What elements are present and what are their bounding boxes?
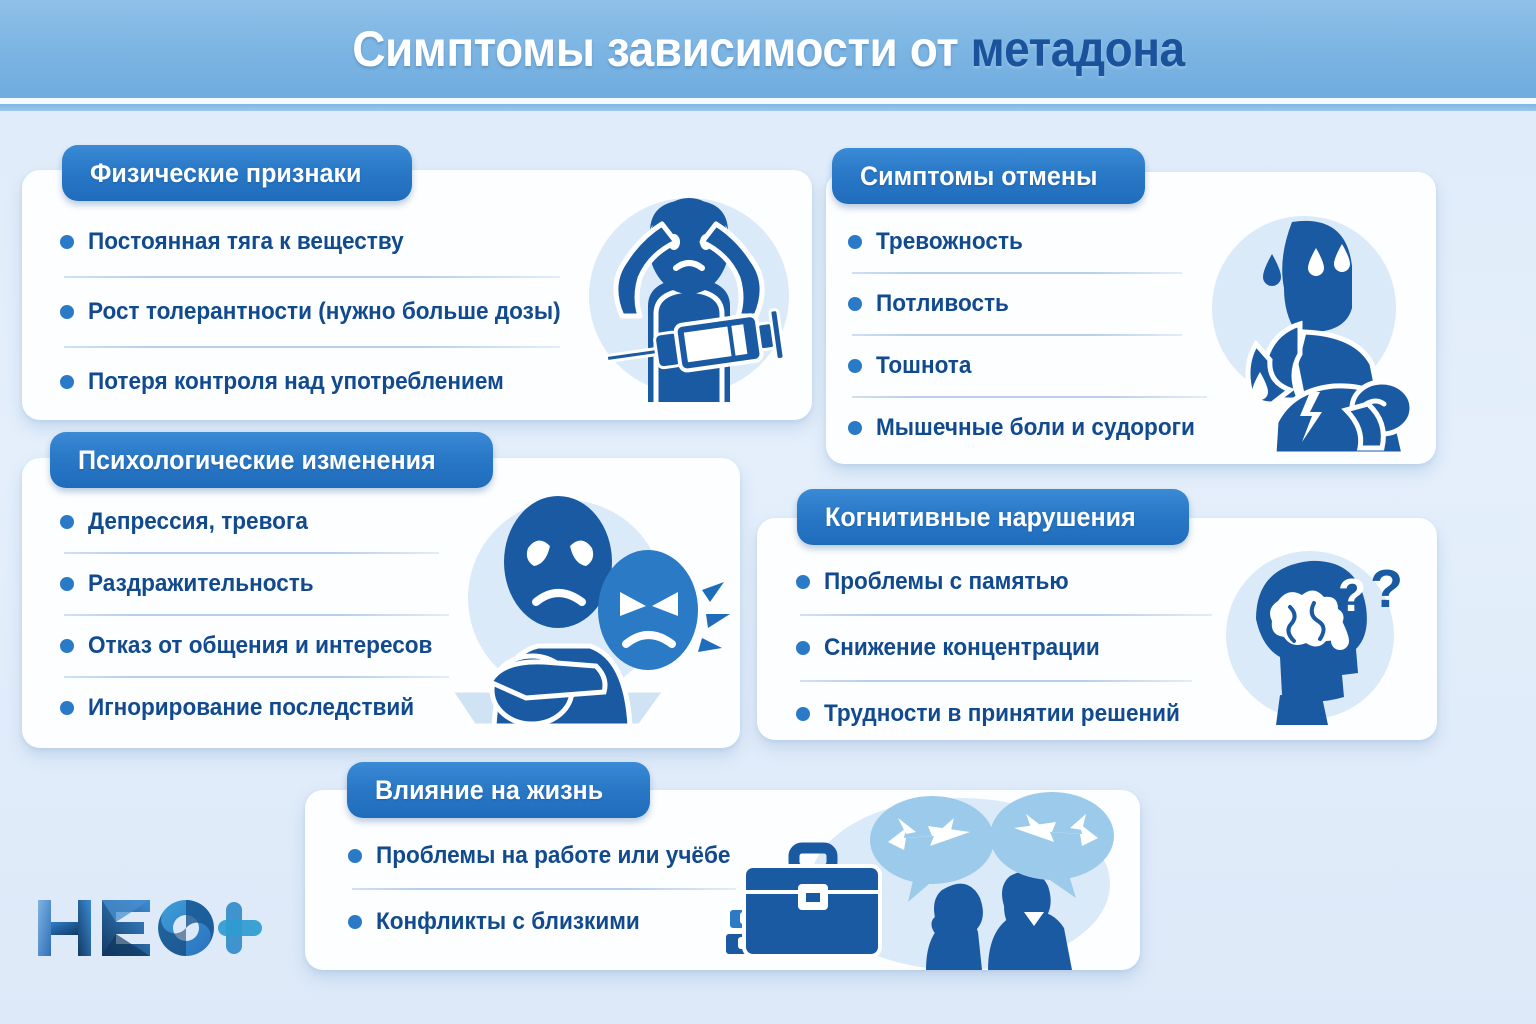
- list-item: Отказ от общения и интересов: [60, 632, 460, 660]
- list-item-label: Снижение концентрации: [824, 634, 1100, 662]
- card-life-impact-title: Влияние на жизнь: [375, 775, 603, 806]
- list-item-label: Проблемы на работе или учёбе: [376, 842, 730, 870]
- bullet-dot-icon: [60, 305, 74, 319]
- page-title: Симптомы зависимости от метадона: [352, 20, 1184, 78]
- list-item-label: Депрессия, тревога: [88, 508, 308, 536]
- sweating-person-cramps-icon: [1196, 204, 1426, 454]
- card-cognitive-impairment-list: Проблемы с памятью Снижение концентрации…: [796, 568, 1216, 728]
- bullet-dot-icon: [60, 639, 74, 653]
- list-item-label: Тошнота: [876, 352, 971, 380]
- bullet-dot-icon: [848, 297, 862, 311]
- list-separator: [852, 396, 1207, 398]
- bullet-dot-icon: [348, 915, 362, 929]
- list-item-label: Проблемы с памятью: [824, 568, 1069, 596]
- card-cognitive-impairment-header: Когнитивные нарушения: [797, 489, 1189, 545]
- card-psychological-changes-header: Психологические изменения: [50, 432, 493, 488]
- card-withdrawal-symptoms-header: Симптомы отмены: [832, 148, 1145, 204]
- head-brain-question-icon: ? ?: [1218, 545, 1418, 725]
- bullet-dot-icon: [60, 235, 74, 249]
- list-item: Проблемы с памятью: [796, 568, 1216, 596]
- stressed-person-syringe-icon: [578, 188, 800, 404]
- bullet-dot-icon: [60, 701, 74, 715]
- list-item: Игнорирование последствий: [60, 694, 460, 722]
- list-item: Тревожность: [848, 228, 1228, 256]
- svg-text:?: ?: [1338, 569, 1366, 621]
- list-item-label: Постоянная тяга к веществу: [88, 228, 404, 256]
- page-title-accent: метадона: [970, 21, 1184, 77]
- list-item-label: Тревожность: [876, 228, 1023, 256]
- list-separator: [852, 272, 1182, 274]
- list-item: Проблемы на работе или учёбе: [348, 842, 748, 870]
- card-cognitive-impairment-title: Когнитивные нарушения: [825, 502, 1136, 533]
- list-item-label: Мышечные боли и судороги: [876, 414, 1195, 442]
- list-item: Рост толерантности (нужно больше дозы): [60, 298, 560, 326]
- card-physical-signs-list: Постоянная тяга к веществу Рост толерант…: [60, 228, 560, 396]
- bullet-dot-icon: [796, 575, 810, 589]
- list-item-label: Потливость: [876, 290, 1009, 318]
- card-withdrawal-symptoms-list: Тревожность Потливость Тошнота Мышечные …: [848, 228, 1228, 442]
- list-item: Конфликты с близкими: [348, 908, 748, 936]
- list-item: Потливость: [848, 290, 1228, 318]
- list-item: Постоянная тяга к веществу: [60, 228, 560, 256]
- bullet-dot-icon: [60, 577, 74, 591]
- bullet-dot-icon: [848, 235, 862, 249]
- bullet-dot-icon: [348, 849, 362, 863]
- card-life-impact-list: Проблемы на работе или учёбе Конфликты с…: [348, 842, 748, 936]
- list-item: Потеря контроля над употреблением: [60, 368, 560, 396]
- list-separator: [64, 614, 449, 616]
- briefcase-books-conflict-icon: [720, 780, 1120, 970]
- card-physical-signs-title: Физические признаки: [90, 158, 361, 189]
- list-separator: [352, 888, 736, 890]
- card-physical-signs-header: Физические признаки: [62, 145, 412, 201]
- page-title-main: Симптомы зависимости от: [352, 21, 970, 77]
- list-separator: [64, 676, 449, 678]
- bullet-dot-icon: [60, 515, 74, 529]
- card-withdrawal-symptoms-title: Симптомы отмены: [860, 161, 1097, 192]
- bullet-dot-icon: [848, 421, 862, 435]
- list-item: Снижение концентрации: [796, 634, 1216, 662]
- list-item: Раздражительность: [60, 570, 460, 598]
- list-item-label: Отказ от общения и интересов: [88, 632, 432, 660]
- list-item-label: Раздражительность: [88, 570, 314, 598]
- card-psychological-changes-list: Депрессия, тревога Раздражительность Отк…: [60, 508, 460, 722]
- bullet-dot-icon: [848, 359, 862, 373]
- card-psychological-changes-title: Психологические изменения: [78, 445, 436, 476]
- list-item: Мышечные боли и судороги: [848, 414, 1228, 442]
- infographic-poster: Симптомы зависимости от метадона Физичес…: [0, 0, 1536, 1024]
- list-item: Депрессия, тревога: [60, 508, 460, 536]
- bullet-dot-icon: [60, 375, 74, 389]
- list-separator: [64, 552, 439, 554]
- list-item-label: Конфликты с близкими: [376, 908, 640, 936]
- sad-angry-faces-icon: [440, 486, 730, 726]
- list-item-label: Рост толерантности (нужно больше дозы): [88, 298, 561, 326]
- list-item: Тошнота: [848, 352, 1228, 380]
- list-item: Трудности в принятии решений: [796, 700, 1216, 728]
- svg-text:?: ?: [1370, 559, 1403, 619]
- bullet-dot-icon: [796, 641, 810, 655]
- list-item-label: Игнорирование последствий: [88, 694, 414, 722]
- neo-plus-logo: [34, 888, 264, 968]
- list-separator: [64, 346, 560, 348]
- bullet-dot-icon: [796, 707, 810, 721]
- list-separator: [800, 680, 1192, 682]
- poster-header: Симптомы зависимости от метадона: [0, 0, 1536, 98]
- list-item-label: Трудности в принятии решений: [824, 700, 1180, 728]
- list-item-label: Потеря контроля над употреблением: [88, 368, 504, 396]
- list-separator: [64, 276, 560, 278]
- card-life-impact-header: Влияние на жизнь: [347, 762, 650, 818]
- list-separator: [852, 334, 1182, 336]
- header-divider-blue: [0, 104, 1536, 111]
- list-separator: [800, 614, 1212, 616]
